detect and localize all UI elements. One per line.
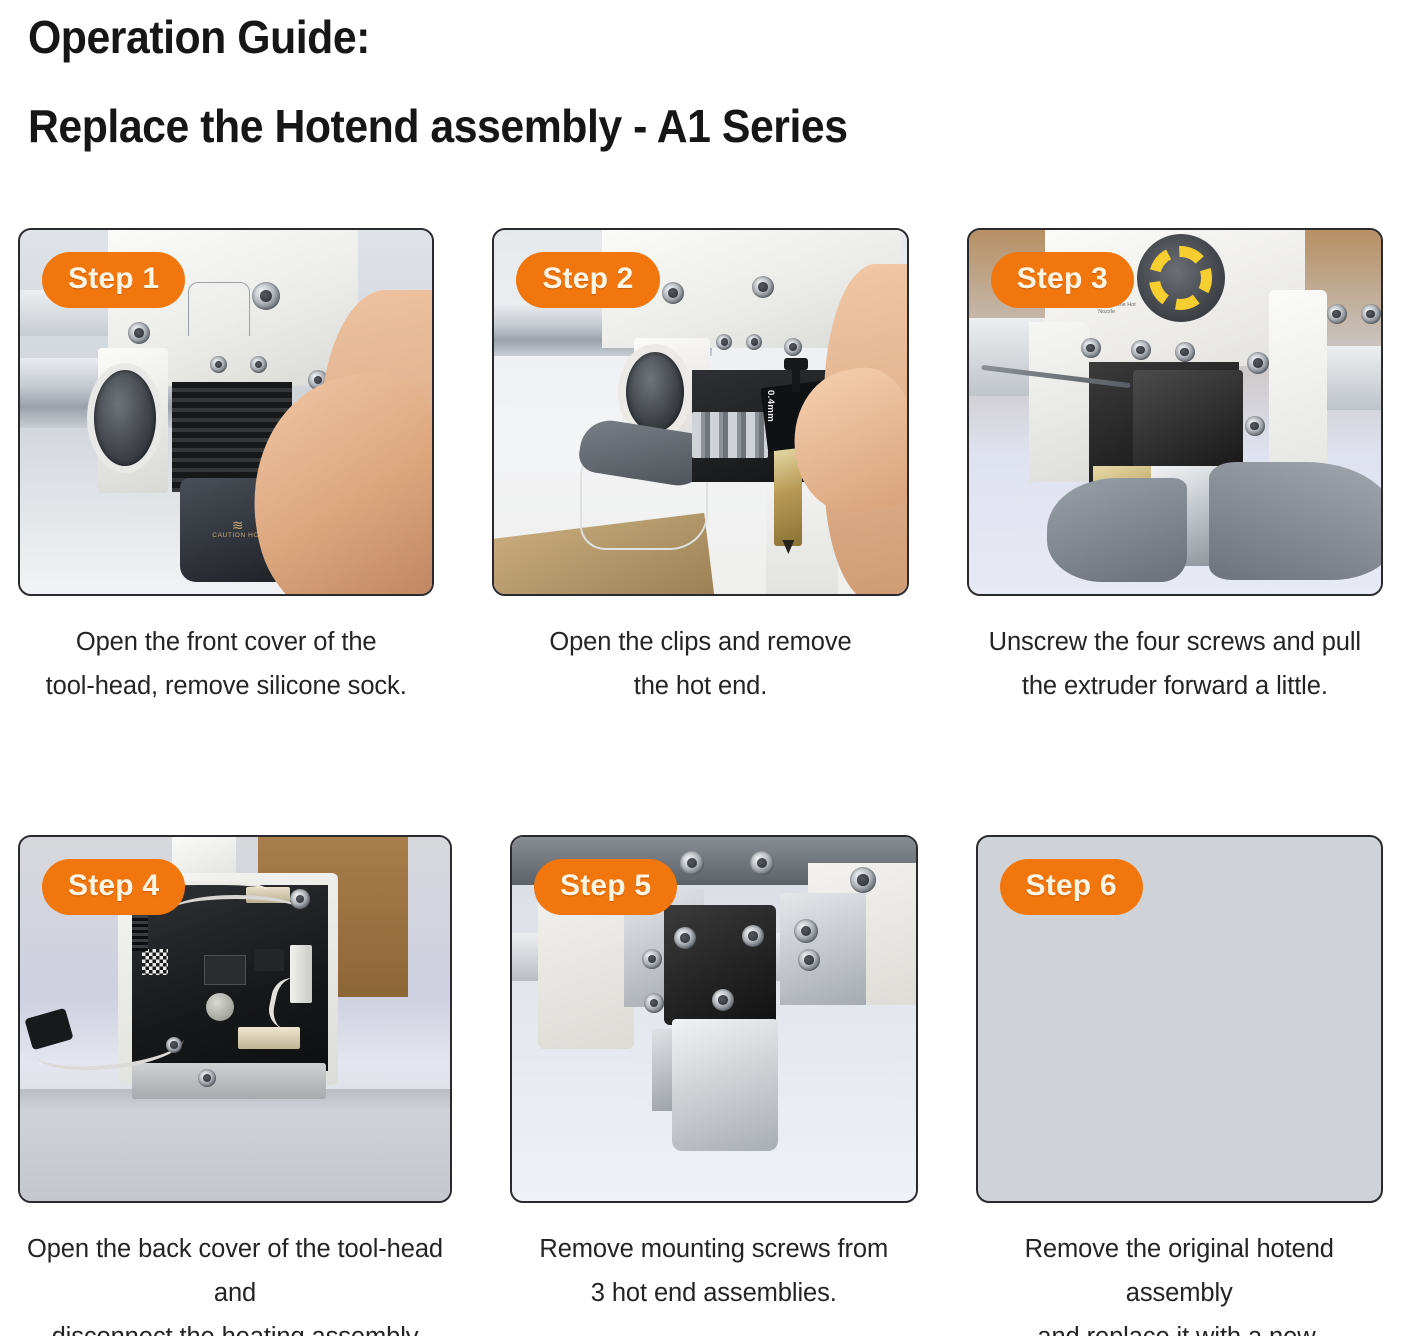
caption-line: the hot end. [549, 664, 851, 708]
screw-icon [198, 1069, 216, 1087]
caption-line: disconnect the heating assembly cable [18, 1315, 452, 1336]
screw-icon [750, 851, 774, 875]
step-5-caption: Remove mounting screws from 3 hot end as… [539, 1227, 888, 1315]
step-4-badge: Step 4 [42, 859, 185, 915]
hotend-clips [692, 412, 768, 458]
step-card-5: Step 5 Remove mounting screws from 3 hot… [510, 835, 918, 1336]
caption-line: Remove mounting screws from [539, 1227, 888, 1271]
step-5-badge: Step 5 [534, 859, 677, 915]
silicone-sock-left [1047, 478, 1187, 582]
printer-shelf [20, 1089, 450, 1201]
page-header: Operation Guide: Replace the Hotend asse… [0, 0, 1401, 158]
caption-line: Remove the original hotend assembly [976, 1227, 1384, 1315]
step-card-2: 0.4mm Step 2 Open the clips and remove t… [492, 228, 908, 708]
screw-icon [210, 356, 227, 373]
screw-icon [798, 949, 820, 971]
wire-clip [188, 282, 250, 336]
step-card-1: ≋ CAUTION HOT Step 1 Open the front cove… [18, 228, 434, 708]
cable-white-2 [172, 895, 300, 925]
screw-icon [642, 949, 662, 969]
toolhead-base [132, 1063, 326, 1099]
step-card-6: Step 6 Remove the original hotend assemb… [976, 835, 1384, 1336]
page-title: Operation Guide: [28, 6, 1305, 68]
caption-line: Unscrew the four screws and pull [989, 620, 1361, 664]
screw-icon [1245, 416, 1265, 436]
caption-line: tool-head, remove silicone sock. [46, 664, 407, 708]
silicone-sock-right [1209, 462, 1381, 580]
hotend-steel-assembly [672, 1019, 778, 1151]
screw-icon [742, 925, 764, 947]
screw-icon [1327, 304, 1347, 324]
secondary-chip [254, 949, 284, 971]
step-card-3: Keep Hands Off the Hot Nozzle [967, 228, 1383, 708]
screw-icon [712, 989, 734, 1011]
caption-line: the extruder forward a little. [989, 664, 1361, 708]
toolhead-left-panel [1029, 322, 1089, 482]
screw-icon [128, 322, 150, 344]
screw-icon [644, 993, 664, 1013]
screw-icon [166, 1037, 182, 1053]
operation-guide-page: Operation Guide: Replace the Hotend asse… [0, 0, 1401, 1336]
screw-icon [680, 851, 704, 875]
step-6-caption: Remove the original hotend assembly and … [976, 1227, 1384, 1336]
step-6-photo: Step 6 [976, 835, 1384, 1203]
fan-duct-hole [626, 352, 684, 432]
step-4-photo: Step 4 [18, 835, 452, 1203]
caption-line: Open the back cover of the tool-head and [18, 1227, 452, 1315]
qr-code-label [142, 949, 168, 975]
screw-icon [850, 867, 876, 893]
screw-icon [1247, 352, 1269, 374]
screw-icon [252, 282, 280, 310]
fan-rotor-icon [1137, 234, 1225, 322]
steps-row-2: Step 4 Open the back cover of the tool-h… [0, 835, 1401, 1336]
screw-icon [1175, 342, 1195, 362]
step-3-photo: Keep Hands Off the Hot Nozzle [967, 228, 1383, 596]
pin-header [132, 915, 148, 951]
step-1-photo: ≋ CAUTION HOT Step 1 [18, 228, 434, 596]
step-4-caption: Open the back cover of the tool-head and… [18, 1227, 452, 1336]
step-3-badge: Step 3 [991, 252, 1134, 308]
step-5-photo: Step 5 [510, 835, 918, 1203]
step-card-4: Step 4 Open the back cover of the tool-h… [18, 835, 452, 1336]
step-1-badge: Step 1 [42, 252, 185, 308]
step-2-badge: Step 2 [516, 252, 659, 308]
caption-line: Open the front cover of the [46, 620, 407, 664]
tool-head-knob [784, 358, 808, 370]
screw-icon [250, 356, 267, 373]
main-chip [204, 955, 246, 985]
step-3-caption: Unscrew the four screws and pull the ext… [989, 620, 1361, 708]
step-2-caption: Open the clips and remove the hot end. [549, 620, 851, 708]
capacitor [206, 993, 234, 1021]
screw-icon [290, 889, 310, 909]
step-2-photo: 0.4mm Step 2 [492, 228, 908, 596]
caption-line: 3 hot end assemblies. [539, 1271, 888, 1315]
screw-icon [1361, 304, 1381, 324]
caution-hot-text: CAUTION HOT [212, 532, 263, 539]
step-1-caption: Open the front cover of the tool-head, r… [46, 620, 407, 708]
screw-icon [1131, 340, 1151, 360]
screw-icon [674, 927, 696, 949]
steps-row-1: ≋ CAUTION HOT Step 1 Open the front cove… [0, 228, 1401, 708]
step-6-badge: Step 6 [1000, 859, 1143, 915]
mounting-plate-right [780, 893, 866, 1005]
nozzle-size-label: 0.4mm [765, 390, 776, 422]
page-subtitle: Replace the Hotend assembly - A1 Series [28, 94, 1305, 158]
screw-icon [794, 919, 818, 943]
caption-line: and replace it with a new. [976, 1315, 1384, 1336]
fan-duct-hole [94, 370, 156, 466]
screw-icon [1081, 338, 1101, 358]
caption-line: Open the clips and remove [549, 620, 851, 664]
